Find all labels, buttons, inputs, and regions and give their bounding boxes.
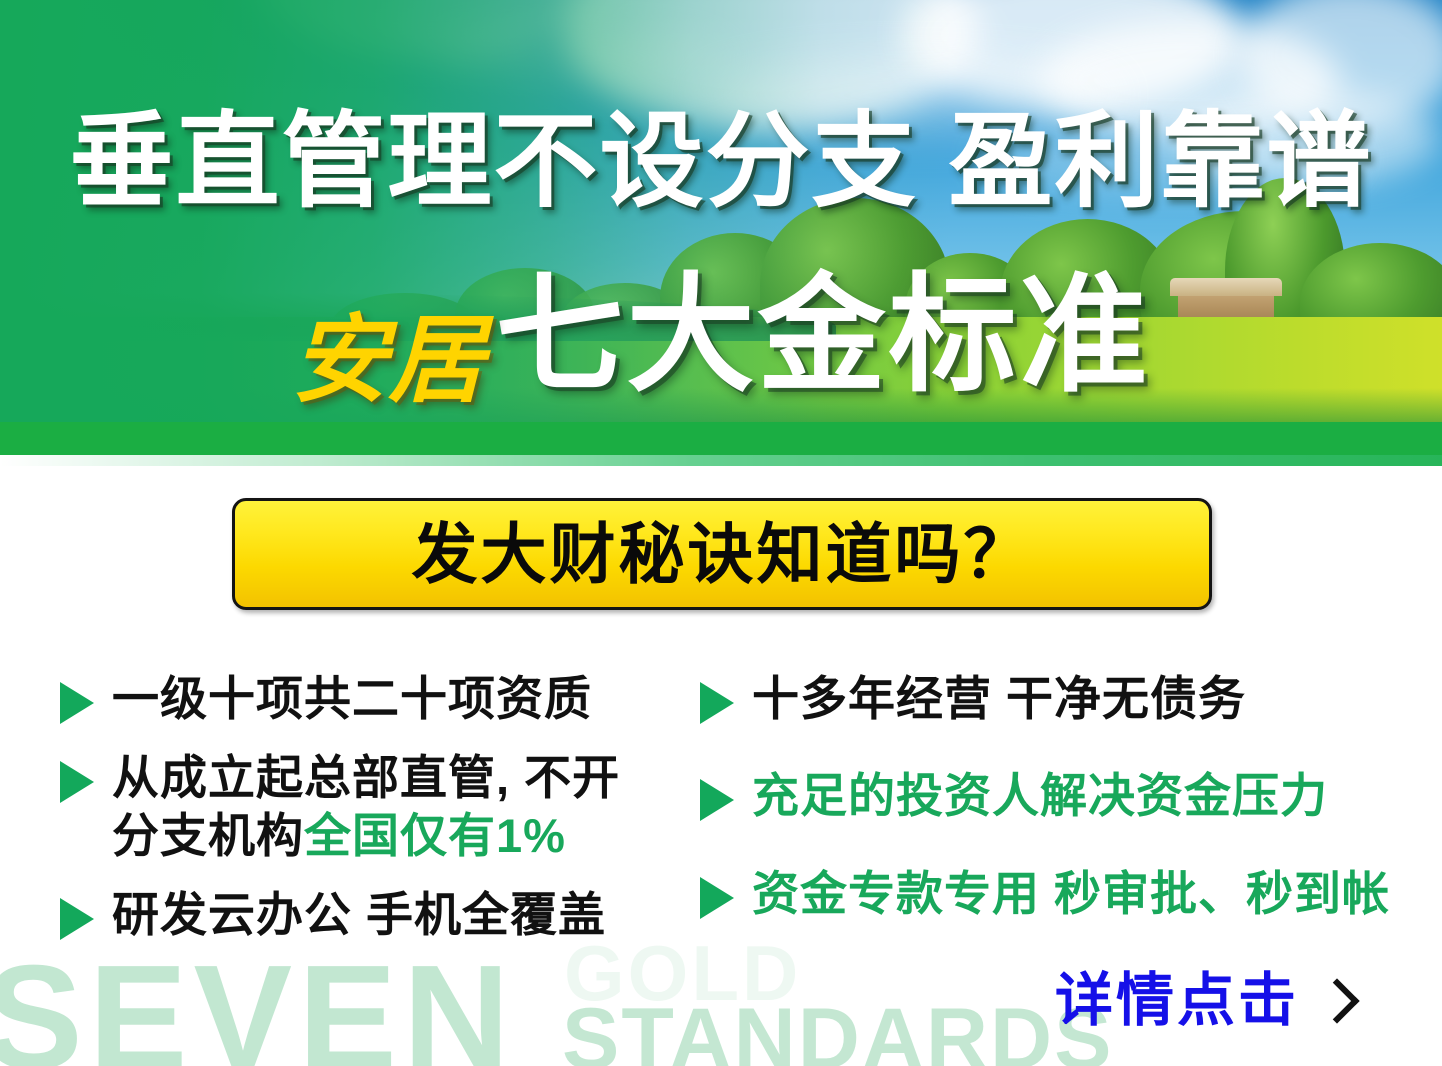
advertisement-banner: 垂直管理不设分支 盈利靠谱 安居七大金标准 发大财秘诀知道吗？ SEVEN GO… <box>0 0 1442 1066</box>
hero-subheadline: 七大金标准 <box>495 272 1150 400</box>
triangle-right-icon <box>700 877 734 919</box>
triangle-right-icon <box>60 898 94 940</box>
question-banner-text: 发大财秘诀知道吗？ <box>412 521 1033 587</box>
hero-headline: 垂直管理不设分支 盈利靠谱 <box>0 110 1442 214</box>
feature-item-label: 从成立起总部直管, 不开 分支机构全国仅有1% <box>112 749 620 864</box>
hero-subheadline-row: 安居七大金标准 <box>0 272 1442 400</box>
hero-section: 垂直管理不设分支 盈利靠谱 安居七大金标准 <box>0 0 1442 455</box>
feature-column-left: 一级十项共二十项资质 从成立起总部直管, 不开 分支机构全国仅有1% 研发云办公… <box>60 660 690 951</box>
detail-cta-label: 详情点击 <box>1055 972 1299 1030</box>
feature-item: 从成立起总部直管, 不开 分支机构全国仅有1% <box>60 749 690 864</box>
hero-divider <box>0 455 1442 466</box>
feature-list: 一级十项共二十项资质 从成立起总部直管, 不开 分支机构全国仅有1% 研发云办公… <box>0 660 1442 990</box>
feature-item: 研发云办公 手机全覆盖 <box>60 886 690 943</box>
feature-item-label-highlight: 全国仅有1% <box>304 809 566 862</box>
feature-column-right: 十多年经营 干净无债务 充足的投资人解决资金压力 资金专款专用 秒审批、秒到帐 <box>700 660 1400 930</box>
feature-item: 一级十项共二十项资质 <box>60 670 690 727</box>
feature-item-label: 一级十项共二十项资质 <box>112 670 592 727</box>
chevron-right-icon <box>1314 978 1359 1023</box>
watermark-standards: STANDARDS <box>562 996 1114 1066</box>
feature-item: 资金专款专用 秒审批、秒到帐 <box>700 865 1400 922</box>
hero-brand-name: 安居 <box>291 313 485 409</box>
feature-item: 十多年经营 干净无债务 <box>700 670 1400 727</box>
hero-green-bar <box>0 422 1442 455</box>
question-banner[interactable]: 发大财秘诀知道吗？ <box>232 498 1212 610</box>
detail-cta-button[interactable]: 详情点击 <box>1055 972 1353 1030</box>
feature-item: 充足的投资人解决资金压力 <box>700 767 1400 824</box>
feature-item-label: 资金专款专用 秒审批、秒到帐 <box>752 865 1390 922</box>
triangle-right-icon <box>700 682 734 724</box>
triangle-right-icon <box>700 779 734 821</box>
feature-item-label: 研发云办公 手机全覆盖 <box>112 886 606 943</box>
triangle-right-icon <box>60 761 94 803</box>
triangle-right-icon <box>60 682 94 724</box>
feature-item-label: 充足的投资人解决资金压力 <box>752 767 1328 824</box>
feature-item-label: 十多年经营 干净无债务 <box>752 670 1246 727</box>
